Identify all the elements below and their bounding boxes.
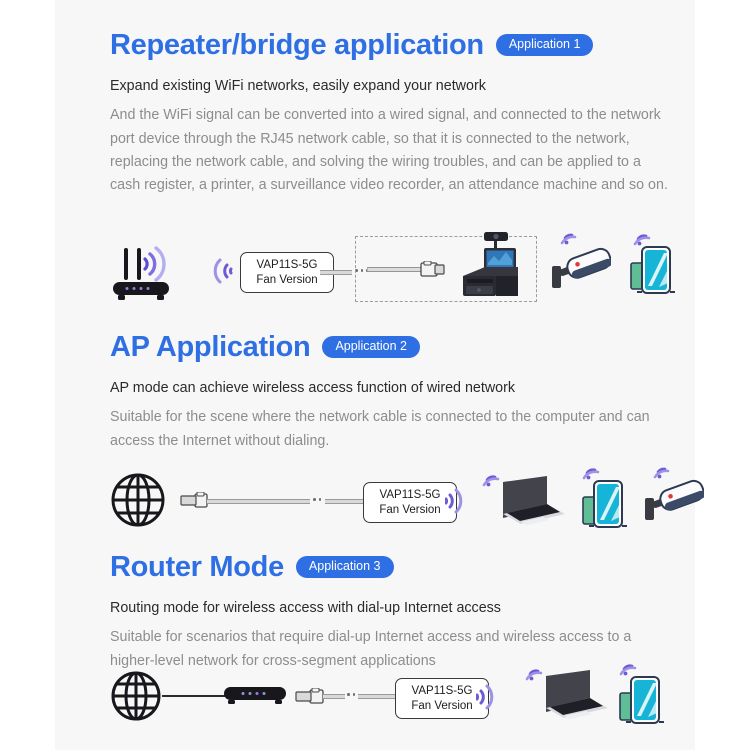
security-camera-icon [547,232,611,301]
device-box-2: VAP11S-5G Fan Version [363,482,457,523]
device-name-line1: VAP11S-5G [403,684,481,699]
section-2-body: Suitable for the scene where the network… [55,406,686,452]
security-camera-icon [640,466,704,535]
rj45-cable-icon [180,492,208,515]
cash-register-icon [455,230,531,307]
rj45-cable-icon [295,688,325,711]
connector-wire-3b [358,694,398,699]
globe-icon [110,472,166,533]
section-ap-application: AP Application Application 2 AP mode can… [55,332,695,453]
modem-icon [223,682,287,713]
globe-icon [110,670,162,727]
status-badge-2: Application 2 [322,336,420,358]
section-3-heading-row: Router Mode Application 3 [55,552,695,582]
section-2-heading-row: AP Application Application 2 [55,332,695,362]
smartphone-icon [573,464,635,539]
section-repeater-bridge: Repeater/bridge application Application … [55,30,695,197]
wifi-waves-icon [207,256,233,291]
connector-wire-3a [323,694,345,699]
rj45-cable-icon [367,261,447,284]
router-icon [110,242,180,304]
connector-wire [320,270,352,275]
section-3-title: Router Mode [110,552,284,582]
wire-dots-3 [347,693,355,696]
status-badge-3: Application 3 [296,556,394,578]
section-2-title: AP Application [110,332,310,362]
section-1-heading-row: Repeater/bridge application Application … [55,30,695,60]
connector-wire-2b [325,499,367,504]
section-router-mode: Router Mode Application 3 Routing mode f… [55,552,695,673]
section-1-body: And the WiFi signal can be converted int… [55,104,686,197]
laptop-icon [518,662,610,731]
product-feature-page: Repeater/bridge application Application … [0,0,750,750]
device-name-line1: VAP11S-5G [248,258,326,273]
device-name-line1: VAP11S-5G [371,488,449,503]
device-box-3: VAP11S-5G Fan Version [395,678,489,719]
section-2-subtitle: AP mode can achieve wireless access func… [55,380,695,396]
smartphone-icon [610,660,672,735]
connector-wire-2a [207,499,310,504]
diagram-router-mode: VAP11S-5G Fan Version [55,662,695,754]
wire-dots-2 [313,498,321,501]
status-badge: Application 1 [496,34,594,56]
section-3-subtitle: Routing mode for wireless access with di… [55,600,695,616]
link-line [162,695,225,697]
device-name-line2: Fan Version [248,273,326,288]
page-title: Repeater/bridge application [110,30,484,60]
laptop-icon [475,468,567,537]
device-name-line2: Fan Version [371,503,449,518]
wifi-waves-icon [476,682,500,717]
smartphone-icon [617,232,679,305]
section-1-subtitle: Expand existing WiFi networks, easily ex… [55,78,695,94]
diagram-repeater-bridge: VAP11S-5G Fan Version [55,228,695,320]
device-name-line2: Fan Version [403,699,481,714]
wifi-waves-icon [445,486,469,521]
content-panel: Repeater/bridge application Application … [55,0,695,750]
diagram-ap-application: VAP11S-5G Fan Version [55,462,695,554]
